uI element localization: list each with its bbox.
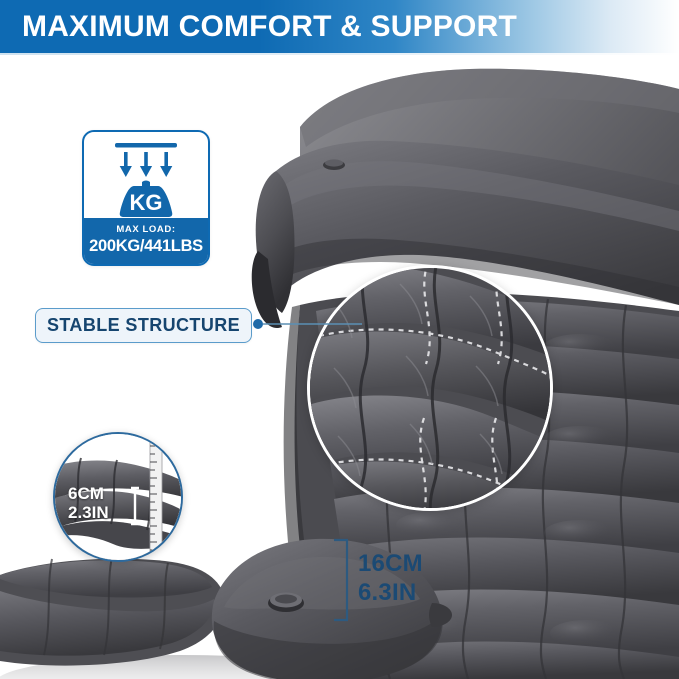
max-load-badge: KG MAX LOAD: 200KG/441LBS <box>82 130 210 266</box>
pad-thickness-imperial: 2.3IN <box>68 503 109 522</box>
pillow-height-label: 16CM 6.3IN <box>358 550 423 608</box>
pad-thickness-label: 6CM 2.3IN <box>68 484 109 522</box>
header-bar: MAXIMUM COMFORT & SUPPORT <box>0 0 679 53</box>
connector-dot-line-icon <box>252 318 362 330</box>
max-load-caption: MAX LOAD: <box>116 225 175 235</box>
air-valve-icon <box>268 593 304 613</box>
header-divider <box>0 53 679 55</box>
product-infographic: 6CM 2.3IN KG MAX LOAD: 200 <box>0 0 679 679</box>
air-cell-structure-zoom <box>307 265 553 511</box>
pillow-height-metric: 16CM <box>358 550 423 579</box>
pad-thickness-metric: 6CM <box>68 484 109 503</box>
max-load-footer: MAX LOAD: 200KG/441LBS <box>84 218 208 264</box>
stable-structure-callout: STABLE STRUCTURE <box>35 308 252 343</box>
pillow-height-imperial: 6.3IN <box>358 579 423 608</box>
pillow-height-callout: 16CM 6.3IN <box>330 538 450 622</box>
ruler-icon <box>150 438 162 556</box>
weight-kg-icon: KG <box>84 132 208 218</box>
dimension-bracket-icon <box>330 538 352 622</box>
page-title: MAXIMUM COMFORT & SUPPORT <box>22 10 517 44</box>
svg-text:KG: KG <box>130 190 163 215</box>
max-load-value: 200KG/441LBS <box>89 237 203 257</box>
stable-structure-label: STABLE STRUCTURE <box>47 315 240 336</box>
